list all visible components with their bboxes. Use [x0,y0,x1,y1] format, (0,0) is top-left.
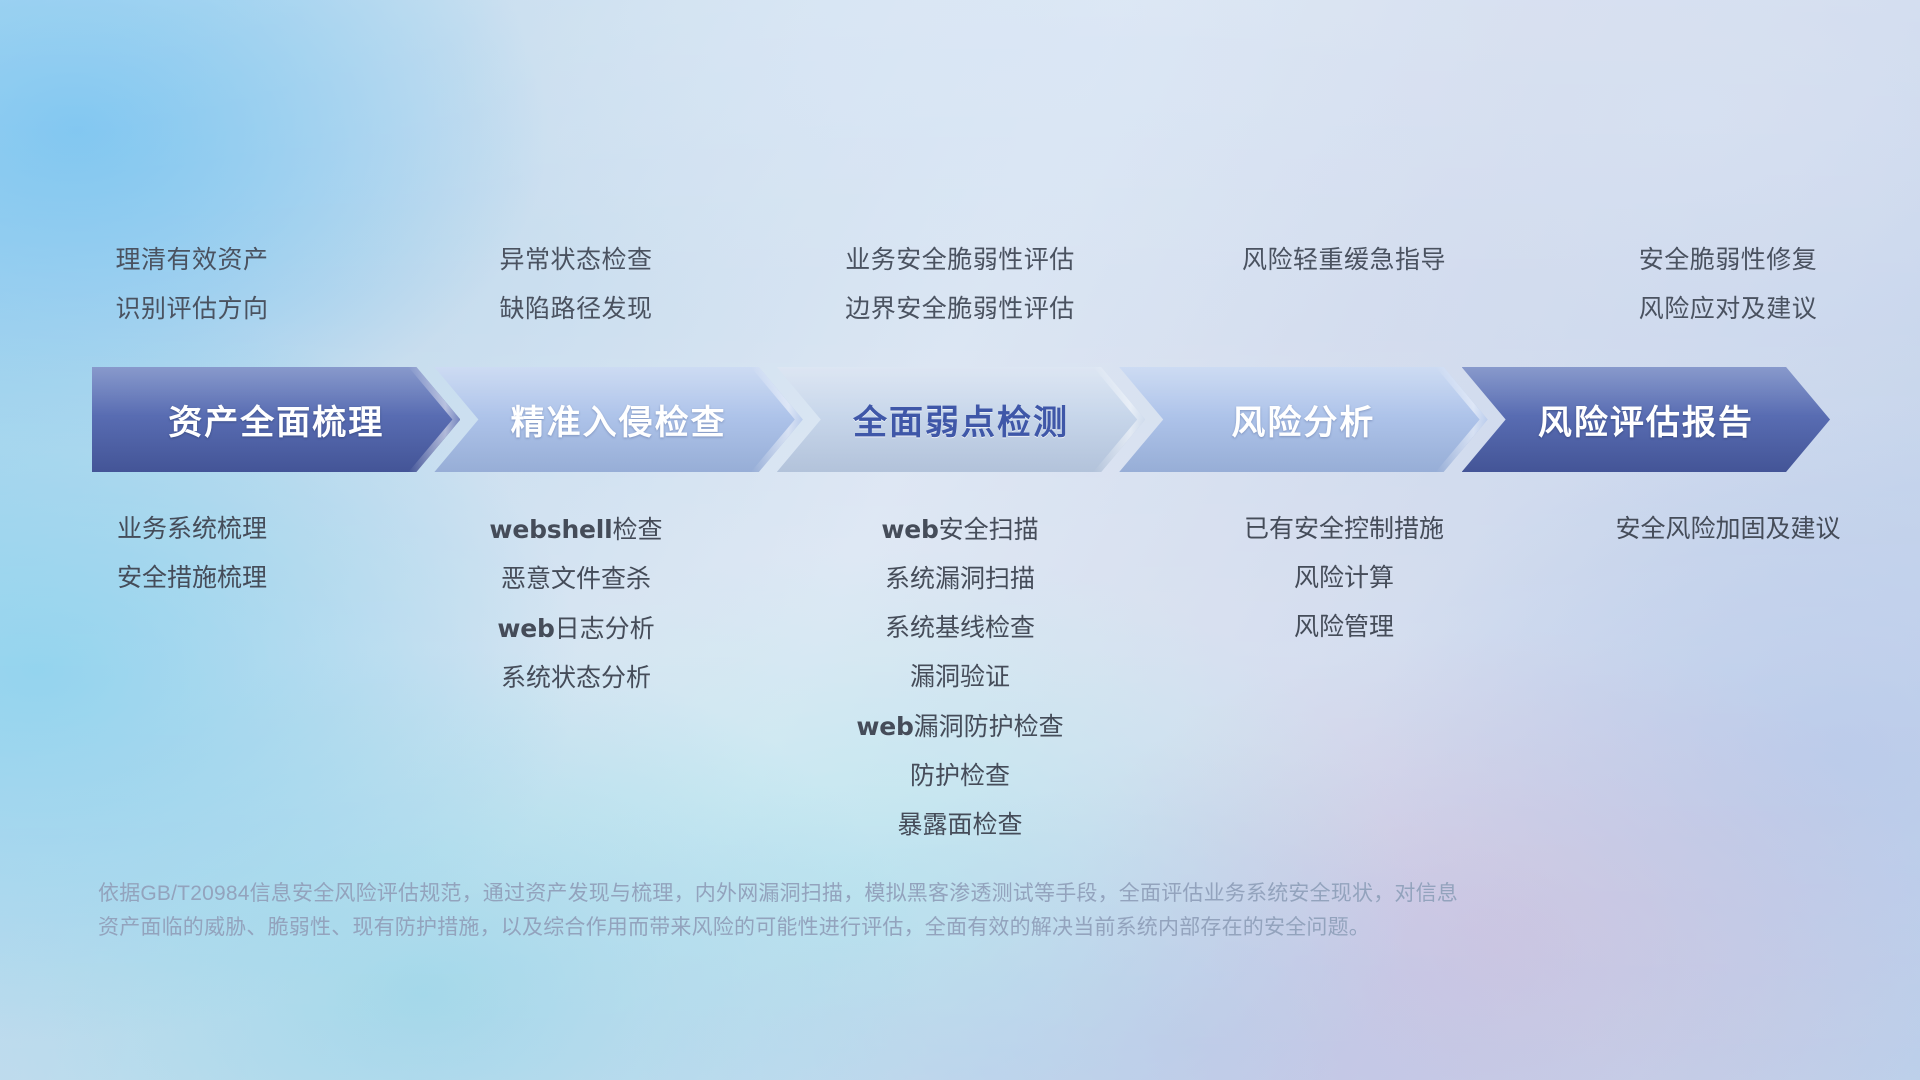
bottom-annotation-text: 系统漏洞扫描 [768,555,1152,604]
bottom-annotation-suffix: 安全扫描 [939,516,1039,544]
bottom-annotations-stage-4: 已有安全控制措施 风险计算 风险管理 [1152,505,1536,652]
top-annotations-stage-5: 安全脆弱性修复 风险应对及建议 [1536,236,1920,346]
bottom-annotations-stage-1: 业务系统梳理 安全措施梳理 [0,505,384,603]
bottom-annotations-stage-5: 安全风险加固及建议 [1536,505,1920,554]
bottom-annotations-stage-2: webshell检查 恶意文件查杀 web日志分析 系统状态分析 [384,505,768,703]
top-annotations-stage-3: 业务安全脆弱性评估 边界安全脆弱性评估 [768,236,1152,346]
stage-title: 风险评估报告 [1538,395,1754,444]
bottom-annotation-text: 系统基线检查 [768,604,1152,653]
stage-chevron-2[interactable]: 精准入侵检查 [434,367,802,472]
bottom-annotations-row: 业务系统梳理 安全措施梳理 webshell检查 恶意文件查杀 web日志分析 … [0,505,1920,850]
top-annotation-text: 风险应对及建议 [1536,285,1920,334]
top-annotation-text: 业务安全脆弱性评估 [768,236,1152,285]
footer-line-1: 依据GB/T20984信息安全风险评估规范，通过资产发现与梳理，内外网漏洞扫描，… [98,877,1658,911]
top-annotation-text: 识别评估方向 [0,285,384,334]
bottom-annotation-text: 风险计算 [1152,554,1536,603]
top-annotations-stage-4: 风险轻重缓急指导 [1152,236,1536,346]
bottom-annotation-text: 暴露面检查 [768,801,1152,850]
bottom-annotation-text: 系统状态分析 [384,654,768,703]
stage-title: 资产全面梳理 [168,395,384,444]
bottom-annotation-text: 业务系统梳理 [0,505,384,554]
bottom-annotation-text: web日志分析 [384,604,768,654]
bottom-annotation-text: 恶意文件查杀 [384,555,768,604]
stage-title: 风险分析 [1231,395,1375,444]
bottom-annotation-text: webshell检查 [384,505,768,555]
stage-title: 精准入侵检查 [511,395,727,444]
bottom-annotation-text: 防护检查 [768,752,1152,801]
bottom-annotation-text: web安全扫描 [768,505,1152,555]
top-annotation-text: 缺陷路径发现 [384,285,768,334]
bottom-annotation-text: web漏洞防护检查 [768,702,1152,752]
top-annotation-text: 理清有效资产 [0,236,384,285]
top-annotation-text: 安全脆弱性修复 [1536,236,1920,285]
top-annotations-stage-1: 理清有效资产 识别评估方向 [0,236,384,346]
top-annotation-text: 风险轻重缓急指导 [1152,236,1536,285]
bottom-annotation-text: 安全风险加固及建议 [1536,505,1920,554]
stage-chevron-5[interactable]: 风险评估报告 [1462,367,1830,472]
top-annotation-text: 异常状态检查 [384,236,768,285]
top-annotations-stage-2: 异常状态检查 缺陷路径发现 [384,236,768,346]
top-annotation-text: 边界安全脆弱性评估 [768,285,1152,334]
stage-chevron-band: 资产全面梳理 精准入侵检查 全面弱点检测 风险分析 风险评估报告 [92,367,1830,472]
stage-chevron-1[interactable]: 资产全面梳理 [92,367,460,472]
footer-line-2: 资产面临的威胁、脆弱性、现有防护措施，以及综合作用而带来风险的可能性进行评估，全… [98,911,1658,945]
process-diagram: 理清有效资产 识别评估方向 异常状态检查 缺陷路径发现 业务安全脆弱性评估 边界… [0,0,1920,1080]
bottom-annotation-text: 风险管理 [1152,603,1536,652]
bottom-annotation-text: 漏洞验证 [768,653,1152,702]
bottom-annotation-suffix: 检查 [613,516,663,544]
bottom-annotation-text: 安全措施梳理 [0,554,384,603]
stage-chevron-4[interactable]: 风险分析 [1119,367,1487,472]
bottom-annotation-suffix: 日志分析 [555,615,655,643]
stage-chevron-3[interactable]: 全面弱点检测 [777,367,1145,472]
stage-title: 全面弱点检测 [853,395,1069,444]
footer-description: 依据GB/T20984信息安全风险评估规范，通过资产发现与梳理，内外网漏洞扫描，… [98,877,1658,945]
bottom-annotation-text: 已有安全控制措施 [1152,505,1536,554]
top-annotations-row: 理清有效资产 识别评估方向 异常状态检查 缺陷路径发现 业务安全脆弱性评估 边界… [0,236,1920,346]
bottom-annotation-suffix: 漏洞防护检查 [914,713,1064,741]
bottom-annotations-stage-3: web安全扫描 系统漏洞扫描 系统基线检查 漏洞验证 web漏洞防护检查 防护检… [768,505,1152,850]
